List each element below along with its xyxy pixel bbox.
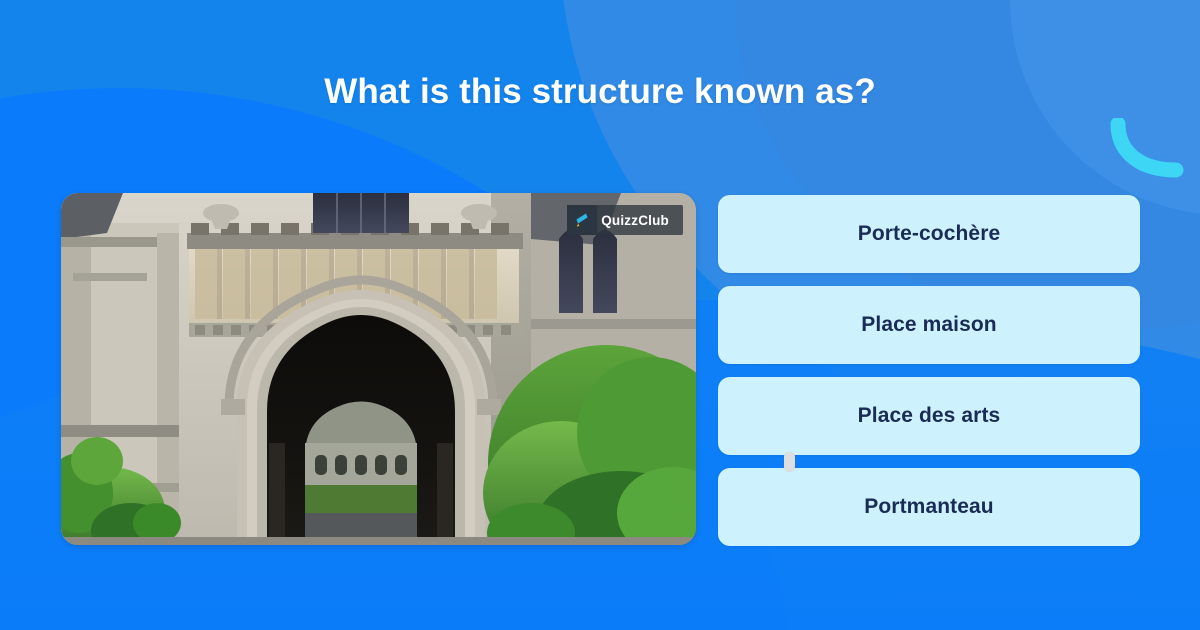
cursor-artifact <box>784 452 795 472</box>
answer-option-3-label: Place des arts <box>858 404 1001 428</box>
answer-option-2-label: Place maison <box>861 313 996 337</box>
watermark-badge: QuizzClub <box>567 205 683 235</box>
watermark-text: QuizzClub <box>601 213 669 228</box>
answer-option-4[interactable]: Portmanteau <box>718 468 1140 546</box>
page-title: What is this structure known as? <box>0 72 1200 112</box>
cyan-arc-icon <box>1110 118 1186 180</box>
answer-options-list: Porte-cochère Place maison Place des art… <box>718 195 1140 546</box>
graduation-cap-icon <box>567 205 597 235</box>
answer-option-2[interactable]: Place maison <box>718 286 1140 364</box>
question-image: QuizzClub <box>61 193 696 545</box>
answer-option-1[interactable]: Porte-cochère <box>718 195 1140 273</box>
answer-option-1-label: Porte-cochère <box>858 222 1001 246</box>
quiz-card: What is this structure known as? <box>0 0 1200 630</box>
answer-option-3[interactable]: Place des arts <box>718 377 1140 455</box>
gatehouse-photo <box>61 193 696 545</box>
answer-option-4-label: Portmanteau <box>864 495 993 519</box>
